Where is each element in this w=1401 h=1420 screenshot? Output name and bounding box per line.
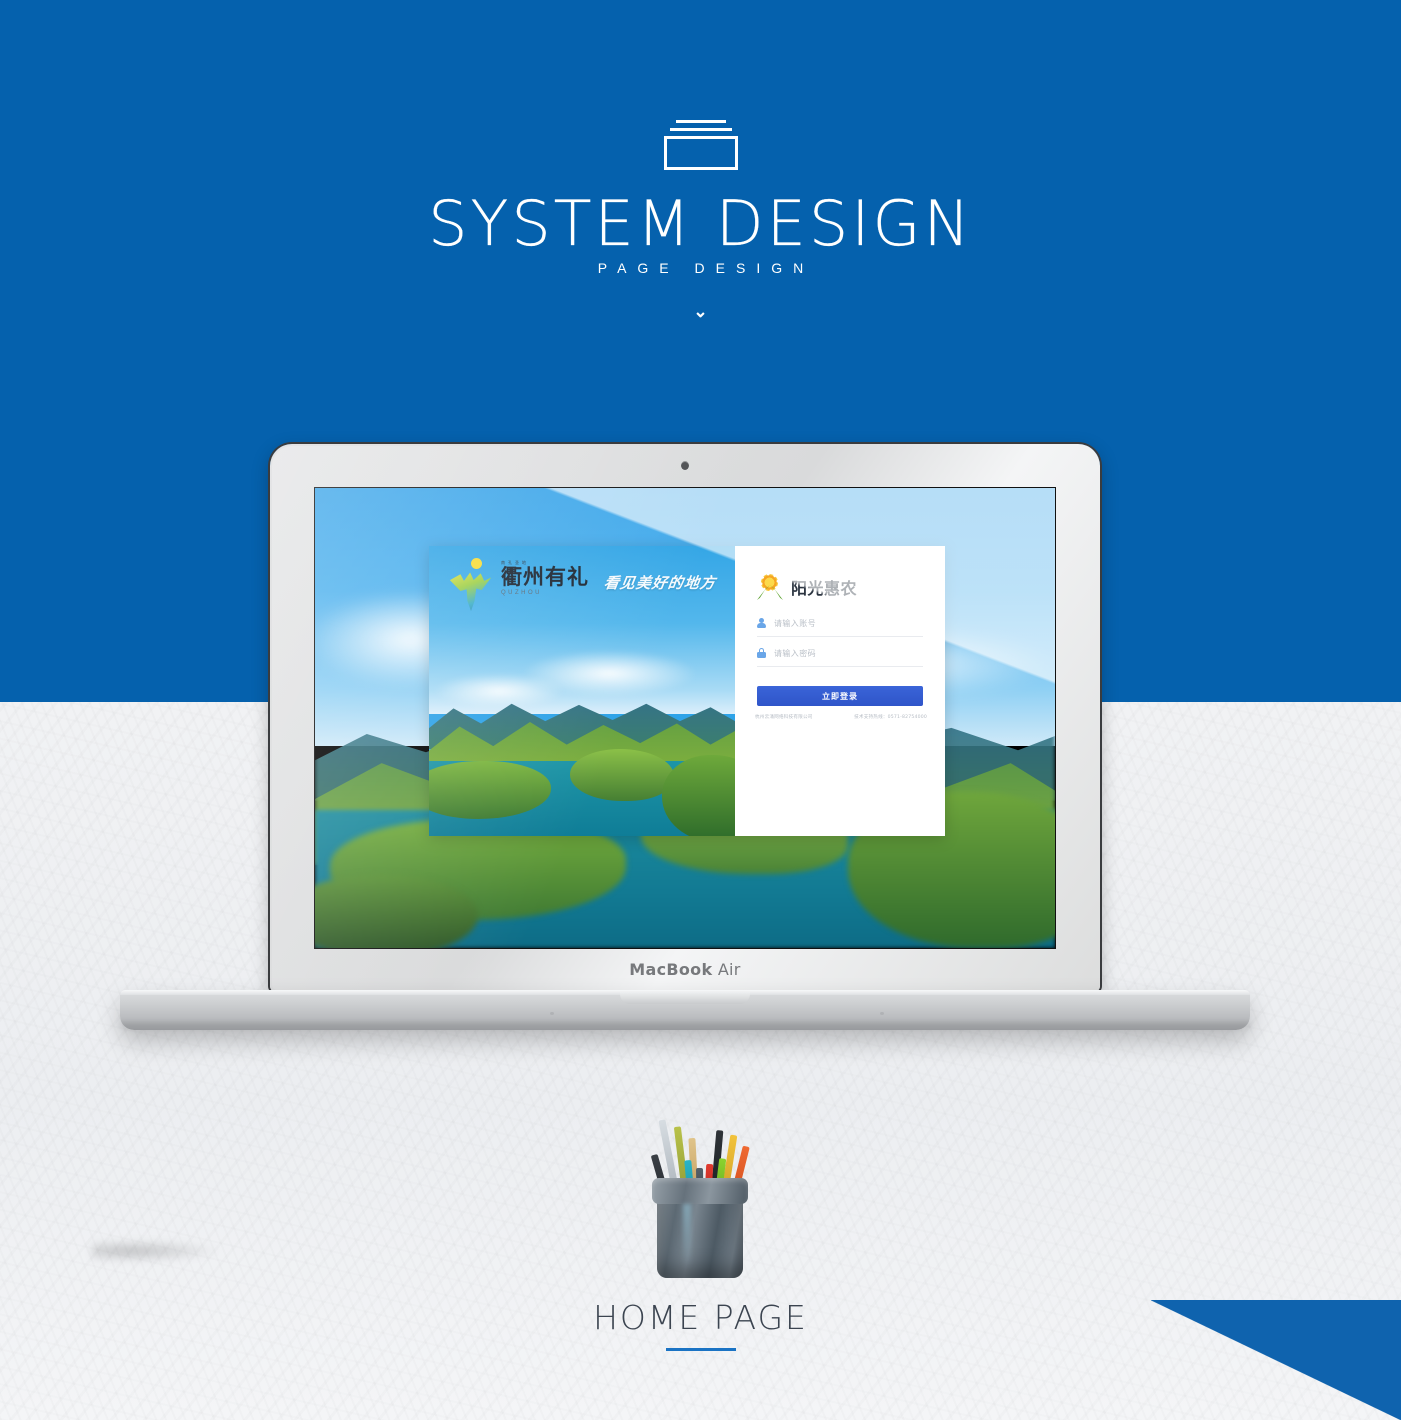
page-title: SYSTEM DESIGN [0, 193, 1401, 255]
laptop-lid: 南孔圣地 衢州有礼 QUZHOU 看见美好的地方 阳光惠农 [270, 444, 1100, 992]
laptop-base-shadow [120, 1023, 1250, 1030]
password-field[interactable]: 请输入密码 [757, 640, 923, 667]
section-label-underline [666, 1348, 736, 1351]
login-card: 阳光惠农 请输入账号 请输入密码 立即登录 杭州云涌网络科技有限公司 技术支持热… [735, 546, 945, 836]
quzhou-bird-logo-icon [449, 560, 493, 612]
chevron-down-icon[interactable]: ⌄ [0, 303, 1401, 320]
password-placeholder: 请输入密码 [774, 648, 816, 659]
pen-holder-jar [657, 1188, 743, 1278]
banner-slogan: 看见美好的地方 [603, 572, 718, 593]
login-submit-button[interactable]: 立即登录 [757, 686, 923, 706]
lock-icon [757, 648, 766, 658]
login-brand: 阳光惠农 [757, 574, 857, 600]
laptop-model-label: MacBook Air [120, 960, 1250, 979]
footer-support: 技术支持热线：0571-82754000 [854, 714, 927, 720]
footer-company: 杭州云涌网络科技有限公司 [755, 714, 813, 720]
pen-holder-shadow [92, 1240, 222, 1262]
pen-holder-icon [645, 1118, 755, 1278]
laptop-base-notch [620, 992, 750, 1004]
account-placeholder: 请输入账号 [774, 618, 816, 629]
laptop-foot [880, 1012, 884, 1015]
page-subtitle: PAGE DESIGN [0, 259, 1401, 277]
banner-title-cn: 衢州有礼 [501, 566, 589, 589]
section-label: HOME PAGE [0, 1300, 1401, 1336]
login-banner: 南孔圣地 衢州有礼 QUZHOU 看见美好的地方 [429, 546, 735, 836]
laptop-screen: 南孔圣地 衢州有礼 QUZHOU 看见美好的地方 阳光惠农 [314, 487, 1056, 949]
login-dialog: 南孔圣地 衢州有礼 QUZHOU 看见美好的地方 阳光惠农 [429, 546, 945, 836]
login-card-footer: 杭州云涌网络科技有限公司 技术支持热线：0571-82754000 [755, 714, 927, 720]
sunflower-sprout-icon [757, 574, 783, 600]
login-brand-name: 阳光惠农 [791, 575, 857, 599]
account-field[interactable]: 请输入账号 [757, 610, 923, 637]
user-icon [757, 618, 766, 628]
banner-title-block: 南孔圣地 衢州有礼 QUZHOU [501, 560, 589, 597]
banner-title-pinyin: QUZHOU [501, 589, 589, 597]
laptop-mockup: 南孔圣地 衢州有礼 QUZHOU 看见美好的地方 阳光惠农 [120, 444, 1250, 1030]
model-brand: MacBook [629, 960, 712, 979]
stacked-window-icon [664, 120, 738, 170]
webcam-dot-icon [681, 461, 689, 470]
model-line: Air [718, 960, 741, 979]
laptop-foot [550, 1012, 554, 1015]
